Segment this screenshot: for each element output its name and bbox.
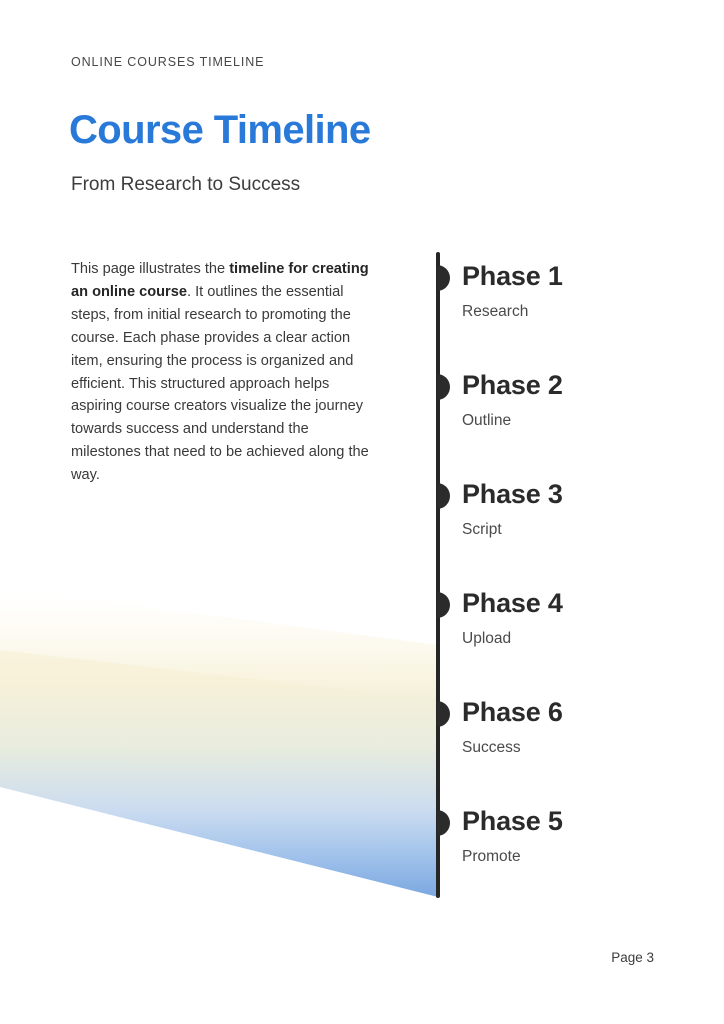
timeline-phase-item[interactable]: Phase 2Outline [436,369,676,449]
phase-title: Phase 1 [462,260,563,293]
timeline-phase-item[interactable]: Phase 5Promote [436,805,676,885]
body-paragraph: This page illustrates the timeline for c… [71,258,376,487]
paragraph-lead: This page illustrates the [71,261,229,277]
timeline-phase-item[interactable]: Phase 4Upload [436,587,676,667]
phase-subtitle: Outline [462,411,563,430]
phase-text-block: Phase 4Upload [462,587,563,648]
phase-text-block: Phase 2Outline [462,369,563,430]
phase-title: Phase 2 [462,369,563,402]
phase-marker-icon [437,701,450,727]
phase-subtitle: Promote [462,847,563,866]
page-subtitle: From Research to Success [71,174,300,196]
paragraph-rest: . It outlines the essential steps, from … [71,284,369,483]
phase-text-block: Phase 1Research [462,260,563,321]
timeline-axis-line [436,252,440,898]
phase-text-block: Phase 5Promote [462,805,563,866]
phase-subtitle: Success [462,738,563,757]
slide-page: ONLINE COURSES TIMELINE Course Timeline … [0,0,724,1024]
phase-text-block: Phase 6Success [462,696,563,757]
phase-title: Phase 5 [462,805,563,838]
timeline-phase-item[interactable]: Phase 6Success [436,696,676,776]
phase-marker-icon [437,810,450,836]
phase-subtitle: Research [462,302,563,321]
phase-text-block: Phase 3Script [462,478,563,539]
phase-title: Phase 3 [462,478,563,511]
phase-marker-icon [437,374,450,400]
page-title: Course Timeline [69,108,370,153]
timeline-phase-item[interactable]: Phase 1Research [436,260,676,340]
phase-title: Phase 6 [462,696,563,729]
phase-marker-icon [437,592,450,618]
phase-subtitle: Script [462,520,563,539]
phase-marker-icon [437,483,450,509]
timeline: Phase 1ResearchPhase 2OutlinePhase 3Scri… [436,252,676,898]
phase-marker-icon [437,265,450,291]
timeline-phase-item[interactable]: Phase 3Script [436,478,676,558]
phase-subtitle: Upload [462,629,563,648]
page-number: Page 3 [611,950,654,965]
phase-title: Phase 4 [462,587,563,620]
eyebrow-label: ONLINE COURSES TIMELINE [71,55,264,69]
